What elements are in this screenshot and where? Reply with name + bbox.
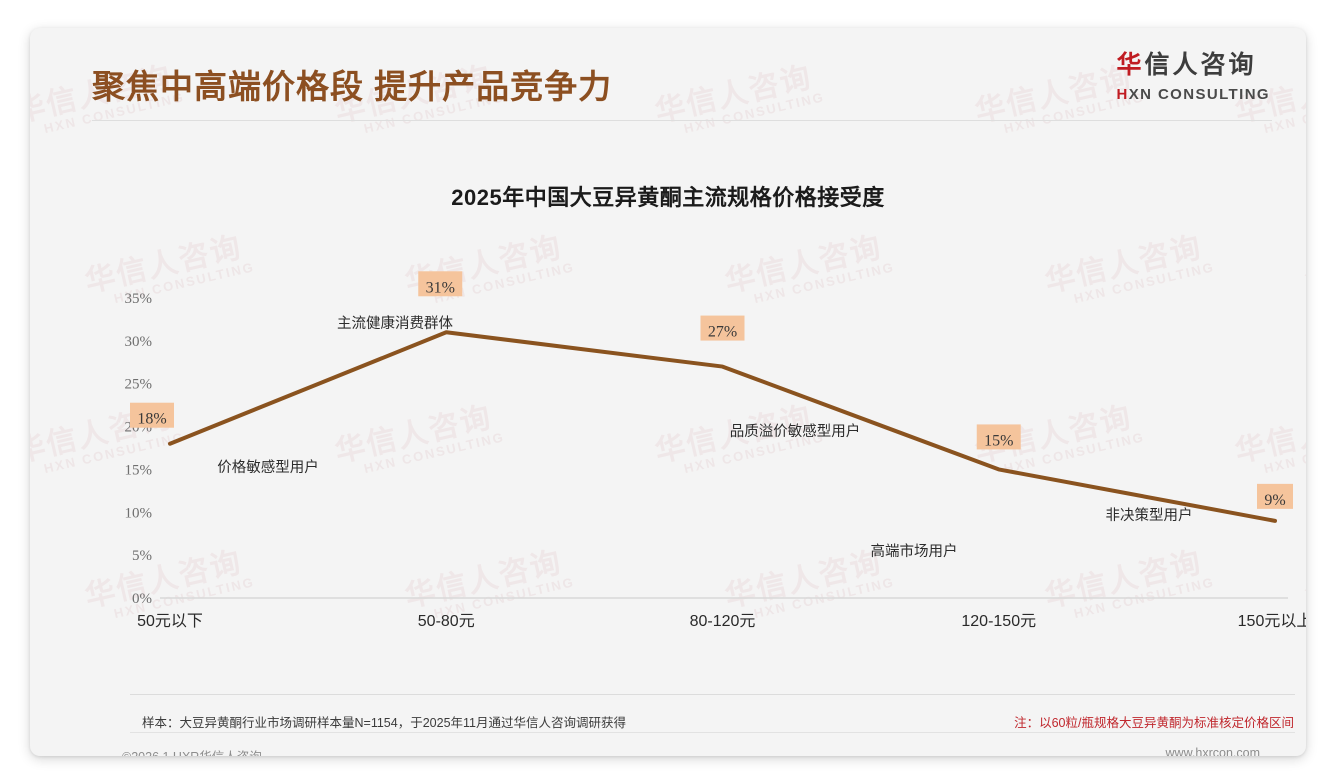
- x-axis-tick-label: 120-150元: [961, 613, 1036, 630]
- data-label-text: 27%: [708, 324, 737, 341]
- sample-note: 样本：大豆异黄酮行业市场调研样本量N=1154，于2025年11月通过华信人咨询…: [142, 712, 626, 731]
- page-title: 聚焦中高端价格段 提升产品竞争力: [92, 60, 612, 108]
- chart-svg: 0%5%10%15%20%25%30%35%50元以下50-80元80-120元…: [30, 236, 1306, 636]
- y-axis-tick-label: 25%: [125, 377, 153, 393]
- chart-block: 2025年中国大豆异黄酮主流规格价格接受度 0%5%10%15%20%25%30…: [30, 132, 1306, 652]
- brand-logo-cn-rest: 信人咨询: [1145, 51, 1257, 79]
- data-label-text: 9%: [1264, 492, 1285, 509]
- y-axis-tick-label: 35%: [125, 291, 153, 307]
- y-axis-tick-label: 0%: [132, 591, 152, 607]
- series-line: [170, 332, 1275, 521]
- brand-logo-cn-highlight: 华: [1117, 51, 1145, 79]
- brand-logo-en-rest: XN CONSULTING: [1129, 86, 1270, 103]
- chart-annotation: 品质溢价敏感型用户: [730, 423, 861, 440]
- header-divider: [92, 120, 1272, 121]
- footer-bar: ©2026.1 HXR华信人咨询 www.hxrcon.com: [30, 734, 1306, 756]
- x-axis-tick-label: 50-80元: [418, 613, 475, 630]
- data-label-text: 31%: [426, 279, 455, 296]
- data-label-text: 18%: [137, 411, 166, 428]
- brand-logo-english: HXN CONSULTING: [1117, 87, 1271, 102]
- brand-logo-chinese: 华信人咨询: [1117, 53, 1271, 78]
- chart-annotation: 非决策型用户: [1106, 507, 1193, 524]
- data-label-text: 15%: [984, 432, 1013, 449]
- line-chart-plot: 0%5%10%15%20%25%30%35%50元以下50-80元80-120元…: [30, 236, 1306, 636]
- site-url[interactable]: www.hxrcon.com: [1166, 746, 1260, 756]
- slide-card: 华信人咨询HXN CONSULTING华信人咨询HXN CONSULTING华信…: [30, 28, 1306, 756]
- y-axis-tick-label: 15%: [125, 462, 153, 478]
- x-axis-tick-label: 50元以下: [137, 613, 203, 630]
- y-axis-tick-label: 30%: [125, 334, 153, 350]
- footer-notes: 样本：大豆异黄酮行业市场调研样本量N=1154，于2025年11月通过华信人咨询…: [142, 710, 1294, 732]
- footer-bar-divider: [130, 732, 1295, 733]
- x-axis-tick-label: 80-120元: [690, 613, 756, 630]
- y-axis-tick-label: 10%: [125, 505, 153, 521]
- y-axis-tick-label: 5%: [132, 548, 152, 564]
- chart-title: 2025年中国大豆异黄酮主流规格价格接受度: [30, 180, 1306, 212]
- x-axis-tick-label: 150元以上: [1238, 612, 1306, 630]
- chart-annotation: 价格敏感型用户: [217, 459, 319, 476]
- chart-annotation: 主流健康消费群体: [337, 315, 453, 332]
- price-note: 注：以60粒/瓶规格大豆异黄酮为标准核定价格区间: [1014, 712, 1294, 731]
- footer-divider: [130, 694, 1295, 695]
- chart-annotation: 高端市场用户: [871, 543, 958, 560]
- brand-logo-en-highlight: H: [1117, 86, 1129, 103]
- slide-header: 聚焦中高端价格段 提升产品竞争力 华信人咨询 HXN CONSULTING: [30, 28, 1306, 120]
- brand-logo: 华信人咨询 HXN CONSULTING: [1117, 53, 1271, 102]
- copyright-text: ©2026.1 HXR华信人咨询: [122, 746, 262, 756]
